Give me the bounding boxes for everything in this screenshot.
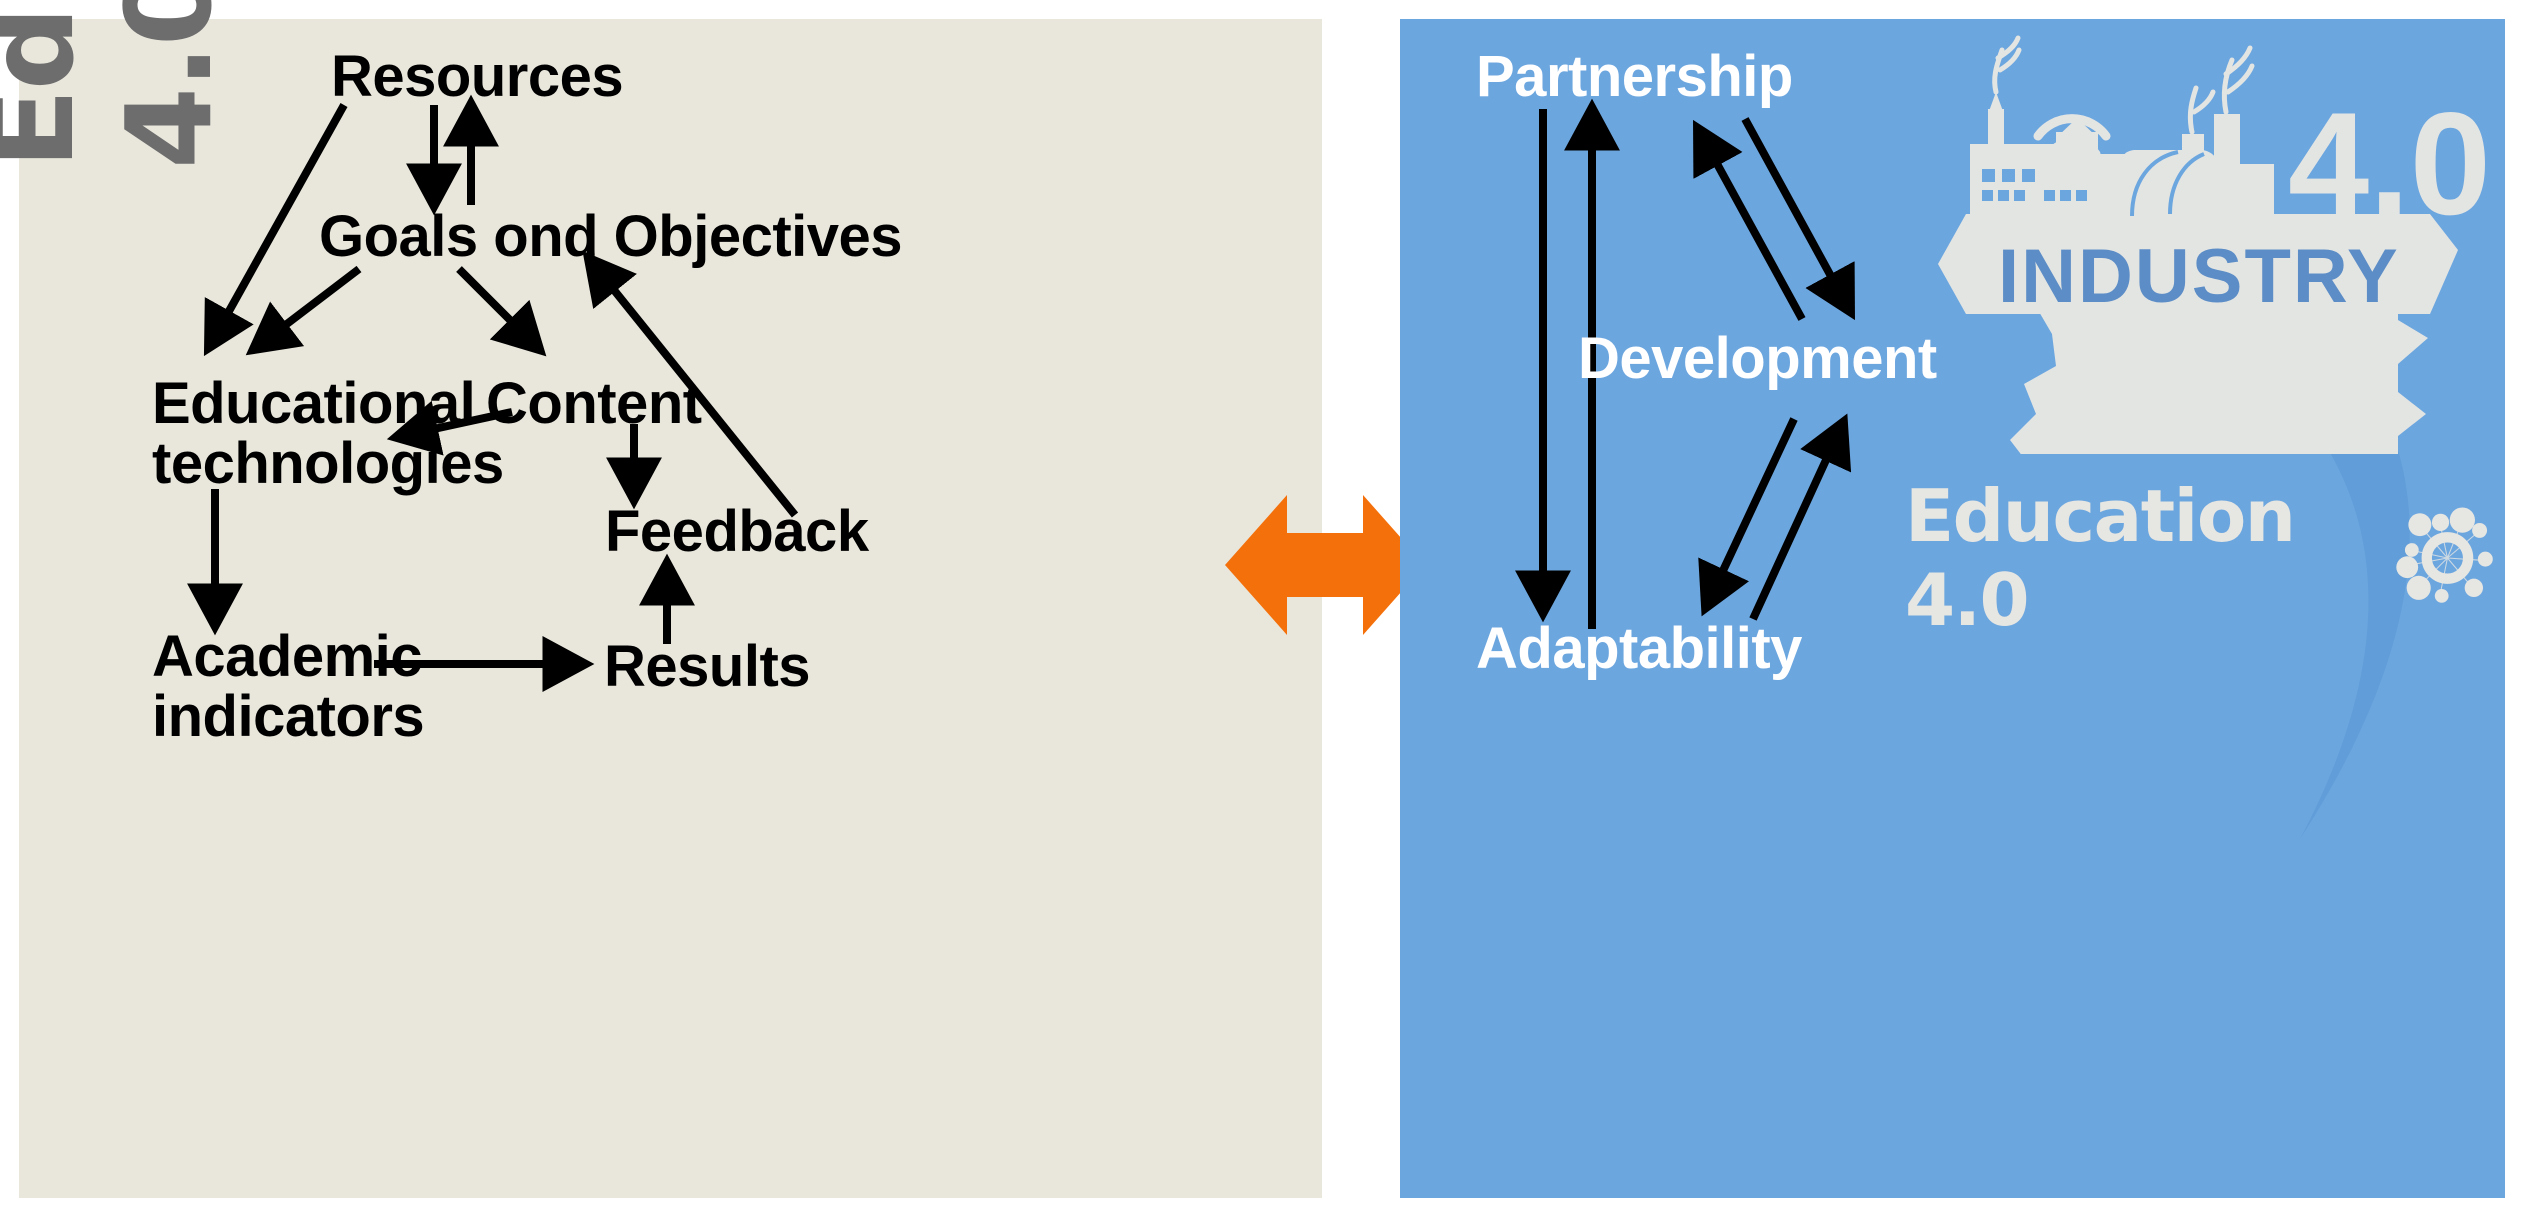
edge-adaptability-to-development [1753, 423, 1843, 619]
edge-partnership-to-development [1745, 119, 1850, 311]
edge-development-to-partnership [1698, 129, 1802, 319]
node-goals-and-objectives: Goals ond Objectives [319, 207, 902, 267]
node-results: Results [604, 637, 810, 697]
node-content: Content [486, 374, 702, 434]
node-development: Development [1578, 329, 1937, 389]
edge-development-to-adaptability [1706, 419, 1794, 607]
node-feedback: Feedback [605, 502, 869, 562]
education-edges [19, 19, 1322, 1198]
node-academic-indicators: Academic indicators [152, 627, 424, 748]
industry-panel: 4.0 INDUSTRY Education 4.0 [1400, 19, 2505, 1198]
education-panel: Education 4.0 [19, 19, 1322, 1198]
industry-edges [1400, 19, 2505, 1198]
node-resources: Resources [331, 47, 623, 107]
node-partnership: Partnership [1476, 47, 1793, 107]
node-adaptability: Adaptability [1476, 619, 1802, 679]
edge-goals-to-content [459, 269, 539, 349]
node-educational-technologies: Educational technologies [152, 374, 504, 495]
edge-goals-to-edtech [254, 269, 359, 349]
bidirectional-relation-arrow [1225, 455, 1425, 675]
